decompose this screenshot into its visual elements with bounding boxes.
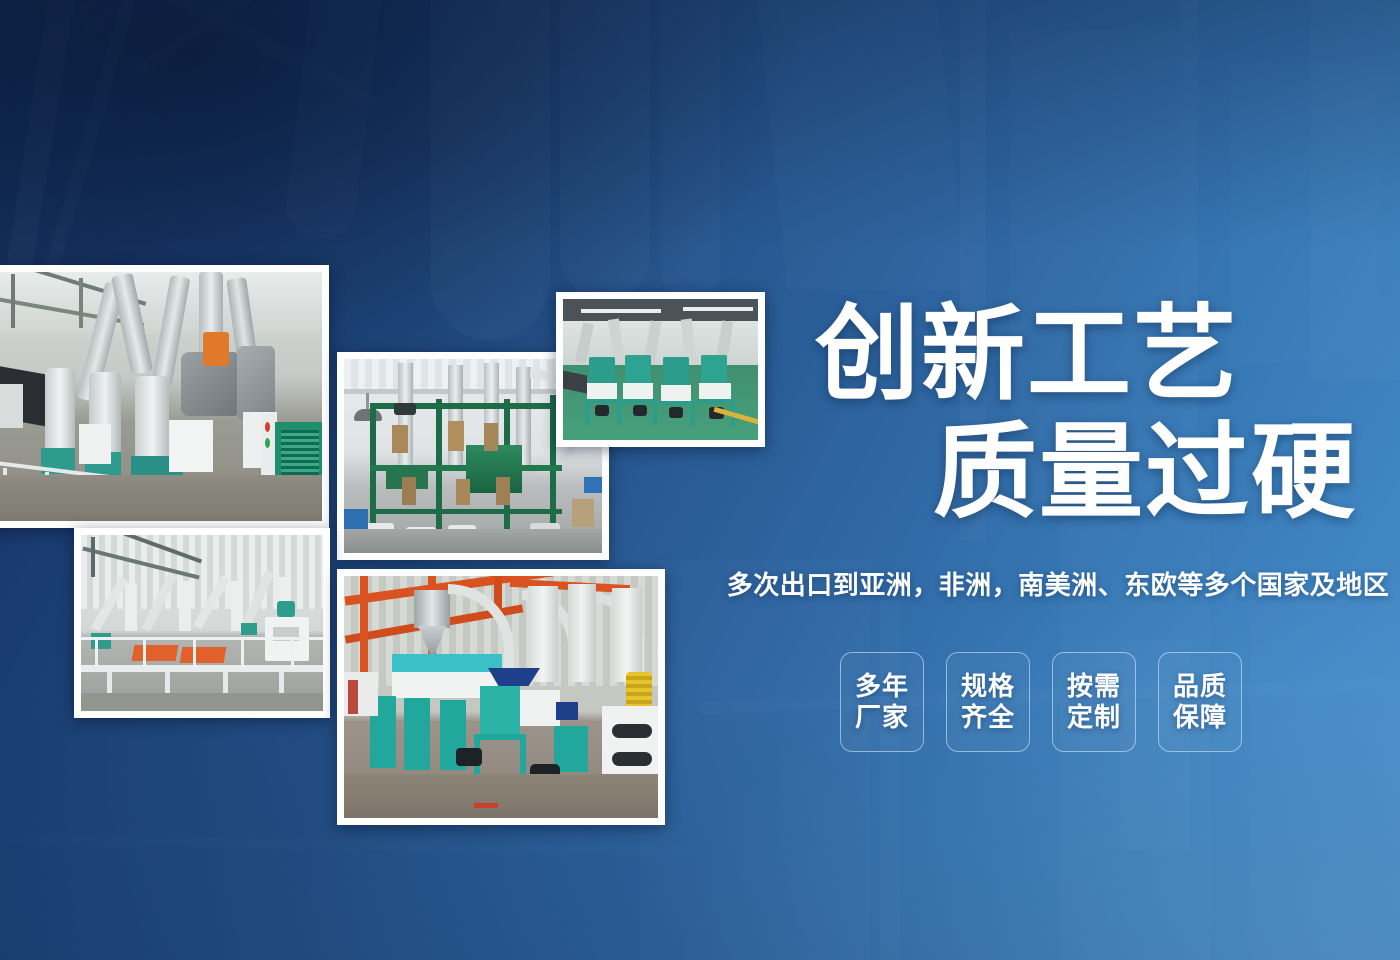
badge-line-1: 规格	[961, 671, 1015, 702]
feature-badge-list: 多年 厂家 规格 齐全 按需 定制 品质 保障	[840, 652, 1242, 752]
badge-line-2: 齐全	[961, 702, 1015, 733]
badge-full-specifications: 规格 齐全	[946, 652, 1030, 752]
badge-line-1: 按需	[1067, 671, 1121, 702]
badge-line-2: 厂家	[855, 702, 909, 733]
badge-line-2: 定制	[1067, 702, 1121, 733]
badge-line-1: 多年	[855, 671, 909, 702]
photo-platform-line	[74, 528, 330, 718]
badge-quality-assurance: 品质 保障	[1158, 652, 1242, 752]
page-title: 创新工艺 质量过硬	[815, 296, 1385, 532]
badge-line-1: 品质	[1173, 671, 1227, 702]
headline-line-2: 质量过硬	[933, 414, 1385, 532]
promotional-banner: 创新工艺 质量过硬 多次出口到亚洲，非洲，南美洲、东欧等多个国家及地区 多年 厂…	[0, 0, 1400, 960]
badge-custom-on-demand: 按需 定制	[1052, 652, 1136, 752]
photo-collage	[0, 0, 700, 960]
photo-mill-line	[0, 265, 329, 528]
photo-teal-plant	[337, 569, 665, 825]
badge-line-2: 保障	[1173, 702, 1227, 733]
banner-content: 创新工艺 质量过硬 多次出口到亚洲，非洲，南美洲、东欧等多个国家及地区 多年 厂…	[700, 0, 1400, 960]
headline-line-1: 创新工艺	[815, 296, 1385, 414]
badge-many-years-manufacturer: 多年 厂家	[840, 652, 924, 752]
subtitle: 多次出口到亚洲，非洲，南美洲、东欧等多个国家及地区	[718, 568, 1398, 602]
